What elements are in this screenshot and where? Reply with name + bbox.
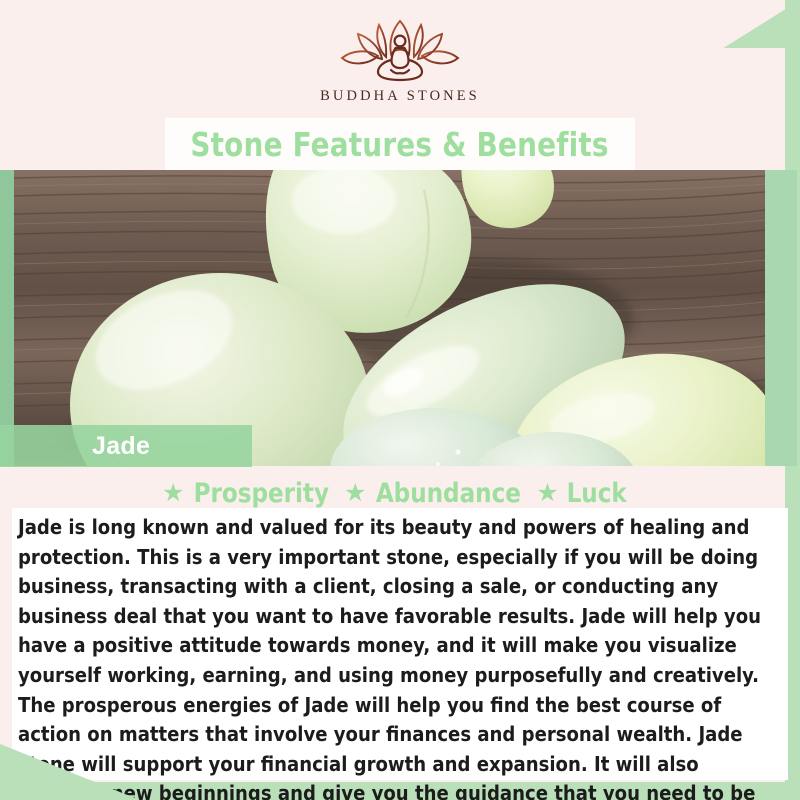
jade-stones-photo xyxy=(14,170,765,466)
title-banner: Stone Features & Benefits xyxy=(165,118,635,170)
stone-name: Jade xyxy=(92,432,150,461)
star-icon: ★ xyxy=(344,481,366,506)
star-icon: ★ xyxy=(536,481,558,506)
brand-wordmark: BUDDHA STONES xyxy=(0,88,800,105)
photo-right-green-strip xyxy=(765,170,797,466)
page-title: Stone Features & Benefits xyxy=(191,125,609,164)
infographic-card: BUDDHA STONES Stone Features & Benefits xyxy=(0,0,800,800)
keyword-label: Abundance xyxy=(376,478,521,509)
description-text: Jade is long known and valued for its be… xyxy=(18,513,774,800)
star-icon: ★ xyxy=(162,481,184,506)
jade-stones-illustration xyxy=(14,170,765,466)
photo-left-green-strip xyxy=(0,170,14,466)
description-panel: Jade is long known and valued for its be… xyxy=(12,508,788,780)
benefit-keywords: ★ Prosperity ★ Abundance ★ Luck xyxy=(0,478,790,509)
brand-logo: BUDDHA STONES xyxy=(0,18,800,105)
keyword-label: Luck xyxy=(566,478,626,509)
stone-name-band: Jade xyxy=(0,425,252,467)
keyword-label: Prosperity xyxy=(194,478,329,509)
lotus-meditation-figure-icon xyxy=(334,18,466,84)
keyword-luck: ★ Luck xyxy=(536,478,628,509)
keyword-prosperity: ★ Prosperity xyxy=(162,478,333,509)
keyword-abundance: ★ Abundance xyxy=(344,478,525,509)
